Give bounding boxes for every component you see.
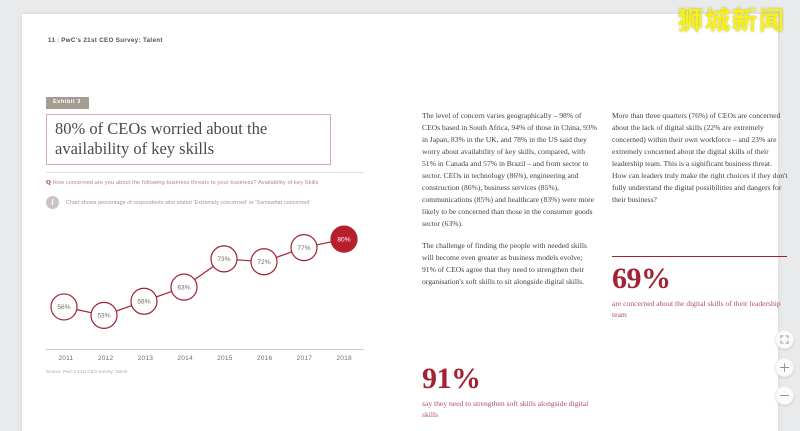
- text-column-1: The level of concern varies geographical…: [422, 110, 598, 288]
- x-tick: 2018: [324, 350, 364, 362]
- document-page: 11|PwC's 21st CEO Survey: Talent Exhibit…: [22, 14, 778, 431]
- x-tick: 2017: [285, 350, 325, 362]
- chart-point-label: 58%: [137, 299, 150, 306]
- info-icon: i: [46, 196, 59, 209]
- exhibit-title: 80% of CEOs worried about the availabili…: [55, 119, 322, 158]
- stat-caption: say they need to strengthen soft skills …: [422, 399, 602, 421]
- fullscreen-button[interactable]: [775, 330, 794, 349]
- question-marker: Q: [46, 179, 53, 186]
- minus-icon: [779, 390, 790, 401]
- paragraph: More than three quarters (76%) of CEOs a…: [612, 110, 788, 206]
- chart-x-axis: 2011 2012 2013 2014 2015 2016 2017 2018: [46, 349, 364, 362]
- chart-point-label: 73%: [217, 256, 230, 263]
- stat-callout-69: 69% are concerned about the digital skil…: [612, 256, 792, 321]
- plus-icon: [779, 362, 790, 373]
- stat-divider: [612, 256, 787, 257]
- zoom-in-button[interactable]: [775, 358, 794, 377]
- chart-point-label: 53%: [97, 313, 110, 320]
- exhibit-question: QHow concerned are you about the followi…: [46, 179, 376, 187]
- x-tick: 2011: [46, 350, 86, 362]
- chart-point-label: 63%: [177, 284, 190, 291]
- paragraph: The level of concern varies geographical…: [422, 110, 598, 230]
- x-tick: 2013: [126, 350, 166, 362]
- zoom-out-button[interactable]: [775, 386, 794, 405]
- exhibit-note: i Chart shows percentage of respondents …: [46, 196, 376, 209]
- watermark: 狮城新闻: [678, 8, 786, 33]
- exhibit-note-text: Chart shows percentage of respondents wh…: [66, 200, 311, 206]
- exhibit-tag: Exhibit 3: [46, 97, 89, 110]
- line-chart: 56%53%58%63%73%72%77%80%: [46, 213, 366, 348]
- expand-icon: [780, 335, 789, 344]
- stat-number: 91%: [422, 364, 602, 394]
- page-header: 11|PwC's 21st CEO Survey: Talent: [48, 37, 163, 44]
- chart-point-label: 56%: [57, 304, 70, 311]
- paragraph: The challenge of finding the people with…: [422, 240, 598, 288]
- stat-callout-91: 91% say they need to strengthen soft ski…: [422, 364, 602, 421]
- chart-source: Source: PwC's 21st CEO Survey: Talent: [46, 369, 376, 374]
- chart-point-label: 77%: [297, 245, 310, 252]
- x-tick: 2015: [205, 350, 245, 362]
- stat-number: 69%: [612, 264, 792, 294]
- stat-caption: are concerned about the digital skills o…: [612, 299, 792, 321]
- page-header-title: PwC's 21st CEO Survey: Talent: [61, 37, 163, 44]
- text-column-2: More than three quarters (76%) of CEOs a…: [612, 110, 788, 206]
- exhibit-divider: [46, 172, 364, 173]
- exhibit-title-box: 80% of CEOs worried about the availabili…: [46, 114, 331, 165]
- x-tick: 2016: [245, 350, 285, 362]
- document-viewer[interactable]: 狮城新闻 11|PwC's 21st CEO Survey: Talent Ex…: [0, 0, 800, 431]
- chart-data-points: 56%53%58%63%73%72%77%80%: [51, 226, 357, 328]
- x-tick: 2014: [165, 350, 205, 362]
- chart-svg: 56%53%58%63%73%72%77%80%: [46, 213, 366, 348]
- viewer-controls[interactable]: [775, 330, 794, 405]
- question-text: How concerned are you about the followin…: [53, 180, 319, 186]
- chart-point-label: 80%: [337, 236, 350, 243]
- chart-point-label: 72%: [257, 259, 270, 266]
- exhibit-block: Exhibit 3 80% of CEOs worried about the …: [46, 90, 376, 374]
- x-tick: 2012: [86, 350, 126, 362]
